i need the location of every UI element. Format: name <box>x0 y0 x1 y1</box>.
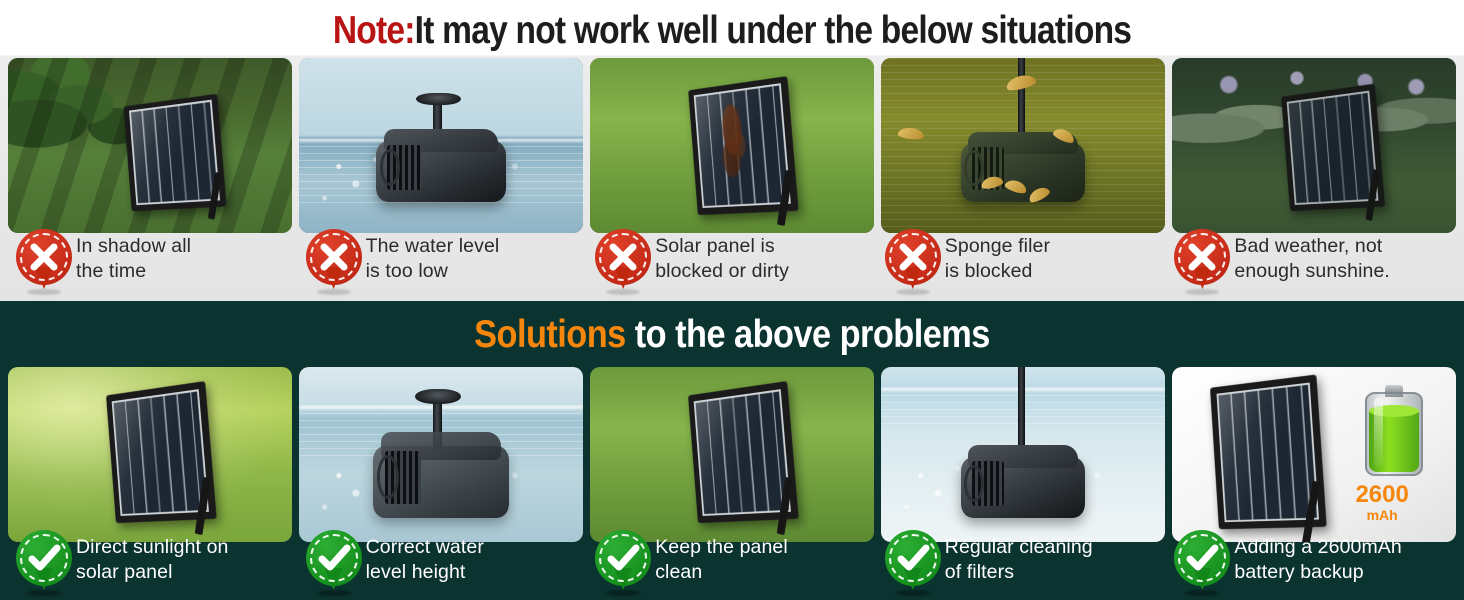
solution-caption-3: Keep the panel clean <box>587 523 877 600</box>
solutions-title: Solutions to the above problems <box>88 309 1376 361</box>
battery-capacity-unit: mAh <box>1355 508 1408 522</box>
check-mark-icon <box>1174 530 1230 596</box>
battery-capacity-value: 2600 <box>1355 483 1408 507</box>
problem-caption-2: The water level is too low <box>298 222 588 294</box>
solution-caption-text: Keep the panel clean <box>655 530 788 585</box>
x-mark-icon <box>16 229 72 295</box>
solution-caption-4: Regular cleaning of filters <box>877 523 1167 600</box>
battery-icon <box>1365 392 1423 476</box>
solutions-section: Solutions to the above problems <box>0 301 1464 600</box>
problem-caption-4: Sponge filer is blocked <box>877 222 1167 294</box>
check-mark-icon <box>885 530 941 596</box>
problem-caption-3: Solar panel is blocked or dirty <box>587 222 877 294</box>
problem-image-shadow <box>8 58 292 233</box>
note-title: Note:It may not work well under the belo… <box>102 6 1361 56</box>
check-mark-icon <box>595 530 651 596</box>
solution-image-clean-filter <box>881 367 1165 542</box>
problem-image-blocked-filter <box>881 58 1165 233</box>
solutions-title-rest: to the above problems <box>626 313 990 356</box>
solution-image-clean-panel <box>590 367 874 542</box>
solution-caption-1: Direct sunlight on solar panel <box>8 523 298 600</box>
problem-image-low-water <box>299 58 583 233</box>
solution-caption-text: Adding a 2600mAh battery backup <box>1234 530 1401 585</box>
solution-image-correct-water-level <box>299 367 583 542</box>
solution-caption-text: Correct water level height <box>366 530 484 585</box>
x-mark-icon <box>595 229 651 295</box>
problem-image-dirty-panel <box>590 58 874 233</box>
problem-image-bad-weather <box>1172 58 1456 233</box>
problem-caption-text: In shadow all the time <box>76 229 191 284</box>
problem-caption-text: The water level is too low <box>366 229 500 284</box>
infographic-sheet: Note:It may not work well under the belo… <box>0 0 1464 600</box>
problem-caption-text: Bad weather, not enough sunshine. <box>1234 229 1390 284</box>
problem-caption-5: Bad weather, not enough sunshine. <box>1166 222 1456 294</box>
note-title-prefix: Note: <box>333 9 415 52</box>
battery-capacity-label: 2600 mAh <box>1355 483 1408 522</box>
problem-image-row <box>0 58 1464 233</box>
x-mark-icon <box>885 229 941 295</box>
problem-caption-1: In shadow all the time <box>8 222 298 294</box>
note-title-rest: It may not work well under the below sit… <box>415 9 1132 52</box>
check-mark-icon <box>306 530 362 596</box>
solutions-title-prefix: Solutions <box>474 313 626 356</box>
x-mark-icon <box>306 229 362 295</box>
problem-caption-text: Solar panel is blocked or dirty <box>655 229 789 284</box>
solution-image-row: 2600 mAh <box>0 367 1464 522</box>
problem-caption-row: In shadow all the time The water level i… <box>0 222 1464 294</box>
solution-caption-text: Direct sunlight on solar panel <box>76 530 228 585</box>
solution-caption-5: Adding a 2600mAh battery backup <box>1166 523 1456 600</box>
solution-caption-row: Direct sunlight on solar panel Correct w… <box>0 523 1464 600</box>
x-mark-icon <box>1174 229 1230 295</box>
solution-caption-text: Regular cleaning of filters <box>945 530 1093 585</box>
solution-image-battery-backup: 2600 mAh <box>1172 367 1456 542</box>
check-mark-icon <box>16 530 72 596</box>
note-section: Note:It may not work well under the belo… <box>0 0 1464 301</box>
problem-caption-text: Sponge filer is blocked <box>945 229 1050 284</box>
solution-image-direct-sunlight <box>8 367 292 542</box>
solution-caption-2: Correct water level height <box>298 523 588 600</box>
